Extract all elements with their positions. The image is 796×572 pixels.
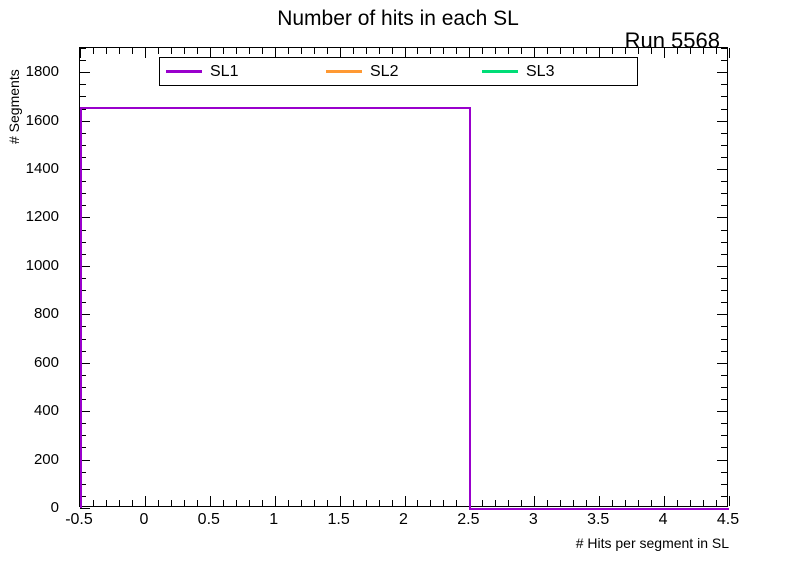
histogram-top-SL1 — [340, 107, 470, 109]
x-axis-tick-label: 2.5 — [433, 511, 503, 529]
axis-tick — [366, 48, 367, 54]
axis-tick — [690, 48, 691, 54]
axis-tick — [677, 48, 678, 54]
axis-tick — [93, 48, 94, 54]
axis-tick — [145, 48, 146, 58]
axis-tick — [132, 48, 133, 54]
axis-tick — [717, 363, 727, 364]
axis-tick — [721, 133, 727, 134]
axis-tick — [716, 500, 717, 506]
axis-tick — [638, 48, 639, 54]
axis-tick — [721, 472, 727, 473]
axis-tick — [721, 193, 727, 194]
axis-tick — [651, 500, 652, 506]
axis-tick — [482, 500, 483, 506]
axis-tick — [119, 48, 120, 54]
axis-tick — [677, 500, 678, 506]
x-axis-tick-label: 0.5 — [174, 511, 244, 529]
axis-tick — [288, 500, 289, 506]
axis-tick — [721, 387, 727, 388]
axis-tick — [80, 96, 86, 97]
y-axis-tick-label: 800 — [0, 306, 59, 321]
axis-tick — [717, 460, 727, 461]
x-axis-tick-label: 4 — [628, 511, 698, 529]
axis-tick — [223, 500, 224, 506]
axis-tick — [717, 411, 727, 412]
axis-tick — [717, 217, 727, 218]
axis-tick — [197, 500, 198, 506]
axis-tick — [132, 500, 133, 506]
axis-tick — [729, 496, 730, 506]
x-axis-title: # Hits per segment in SL — [0, 534, 729, 552]
axis-tick — [721, 48, 727, 49]
axis-tick — [721, 205, 727, 206]
legend-entry-sl3[interactable]: SL3 — [482, 58, 554, 85]
axis-tick — [721, 145, 727, 146]
axis-tick — [703, 48, 704, 54]
axis-tick — [721, 157, 727, 158]
axis-tick — [314, 500, 315, 506]
axis-tick — [456, 500, 457, 506]
axis-tick — [703, 500, 704, 506]
y-axis-tick-label: 600 — [0, 355, 59, 370]
axis-tick — [236, 48, 237, 54]
axis-tick — [301, 500, 302, 506]
axis-tick — [495, 48, 496, 54]
histogram-edge-SL1 — [80, 107, 82, 508]
axis-tick — [721, 339, 727, 340]
axis-tick — [721, 242, 727, 243]
axis-tick — [721, 496, 727, 497]
axis-tick — [721, 351, 727, 352]
axis-tick — [353, 500, 354, 506]
x-axis-tick-label: 2 — [369, 511, 439, 529]
axis-tick — [249, 500, 250, 506]
axis-tick — [721, 447, 727, 448]
axis-tick — [721, 230, 727, 231]
axis-tick — [288, 48, 289, 54]
axis-tick — [184, 48, 185, 54]
axis-tick — [327, 48, 328, 54]
axis-tick — [314, 48, 315, 54]
axis-tick — [690, 500, 691, 506]
axis-tick — [495, 500, 496, 506]
axis-tick — [547, 48, 548, 54]
axis-tick — [171, 48, 172, 54]
axis-tick — [223, 48, 224, 54]
axis-tick — [599, 496, 600, 506]
x-axis-tick-label: 4.5 — [693, 511, 763, 529]
y-axis-tick-label: 1200 — [0, 209, 59, 224]
legend-entry-sl1[interactable]: SL1 — [166, 58, 238, 85]
axis-tick — [521, 500, 522, 506]
axis-tick — [392, 48, 393, 54]
plot-frame — [79, 47, 728, 507]
axis-tick — [508, 48, 509, 54]
x-axis-tick-label: 0 — [109, 511, 179, 529]
legend[interactable]: SL1SL2SL3 — [159, 57, 638, 86]
axis-tick — [392, 500, 393, 506]
axis-tick — [729, 48, 730, 58]
axis-tick — [717, 314, 727, 315]
axis-tick — [443, 500, 444, 506]
axis-tick — [717, 121, 727, 122]
axis-tick — [716, 48, 717, 54]
axis-tick — [508, 500, 509, 506]
axis-tick — [262, 48, 263, 54]
axis-tick — [721, 484, 727, 485]
axis-tick — [521, 48, 522, 54]
x-axis-tick-label: 3.5 — [563, 511, 633, 529]
axis-tick — [197, 48, 198, 54]
axis-tick — [145, 496, 146, 506]
histogram-top-SL1 — [599, 508, 729, 510]
axis-tick — [80, 60, 86, 61]
axis-tick — [717, 72, 727, 73]
axis-tick — [80, 48, 81, 58]
axis-tick — [721, 399, 727, 400]
legend-swatch-icon — [166, 70, 202, 73]
axis-tick — [366, 500, 367, 506]
y-axis-tick-label: 200 — [0, 452, 59, 467]
axis-tick — [249, 48, 250, 54]
axis-tick — [534, 496, 535, 506]
root-canvas: Number of hits in each SL Run 5568 # Seg… — [0, 0, 796, 572]
axis-tick — [417, 48, 418, 54]
x-axis-tick-label: 1 — [239, 511, 309, 529]
axis-tick — [262, 500, 263, 506]
axis-tick — [119, 500, 120, 506]
axis-tick — [80, 84, 86, 85]
legend-entry-sl2[interactable]: SL2 — [326, 58, 398, 85]
axis-tick — [721, 326, 727, 327]
axis-tick — [547, 500, 548, 506]
axis-tick — [664, 48, 665, 58]
axis-tick — [353, 48, 354, 54]
legend-swatch-icon — [326, 70, 362, 73]
histogram-top-SL1 — [80, 107, 210, 109]
axis-tick — [456, 48, 457, 54]
axis-tick — [625, 500, 626, 506]
axis-tick — [721, 302, 727, 303]
axis-tick — [625, 48, 626, 54]
axis-tick — [586, 500, 587, 506]
y-axis-tick-label: 400 — [0, 403, 59, 418]
legend-label: SL1 — [210, 63, 238, 81]
axis-tick — [717, 266, 727, 267]
x-axis-tick-label: 3 — [498, 511, 568, 529]
axis-tick — [301, 48, 302, 54]
axis-tick — [612, 48, 613, 54]
axis-tick — [721, 290, 727, 291]
axis-tick — [721, 60, 727, 61]
axis-tick — [560, 500, 561, 506]
axis-tick — [340, 496, 341, 506]
axis-tick — [586, 48, 587, 54]
legend-swatch-icon — [482, 70, 518, 73]
axis-tick — [638, 500, 639, 506]
axis-tick — [158, 48, 159, 54]
axis-tick — [721, 109, 727, 110]
axis-tick — [106, 500, 107, 506]
y-axis-tick-label: 1800 — [0, 64, 59, 79]
axis-tick — [443, 48, 444, 54]
axis-tick — [275, 496, 276, 506]
axis-tick — [573, 48, 574, 54]
legend-label: SL2 — [370, 63, 398, 81]
axis-tick — [721, 181, 727, 182]
x-axis-tick-label: 1.5 — [304, 511, 374, 529]
y-axis-tick-label: 1000 — [0, 258, 59, 273]
axis-tick — [717, 169, 727, 170]
axis-tick — [721, 84, 727, 85]
axis-tick — [721, 278, 727, 279]
axis-tick — [236, 500, 237, 506]
legend-label: SL3 — [526, 63, 554, 81]
histogram-top-SL1 — [469, 508, 599, 510]
histogram-edge-SL1 — [469, 107, 471, 508]
axis-tick — [184, 500, 185, 506]
histogram-top-SL1 — [210, 107, 340, 109]
axis-tick — [721, 254, 727, 255]
axis-tick — [379, 48, 380, 54]
y-axis-tick-label: 1600 — [0, 113, 59, 128]
axis-tick — [106, 48, 107, 54]
axis-tick — [721, 423, 727, 424]
axis-tick — [417, 500, 418, 506]
axis-tick — [379, 500, 380, 506]
axis-tick — [612, 500, 613, 506]
axis-tick — [80, 508, 90, 509]
axis-tick — [430, 48, 431, 54]
axis-tick — [721, 435, 727, 436]
axis-tick — [405, 496, 406, 506]
axis-tick — [80, 72, 90, 73]
axis-tick — [158, 500, 159, 506]
axis-tick — [93, 500, 94, 506]
axis-tick — [327, 500, 328, 506]
axis-tick — [560, 48, 561, 54]
axis-tick — [430, 500, 431, 506]
x-axis-tick-label: -0.5 — [44, 511, 114, 529]
axis-tick — [721, 375, 727, 376]
axis-tick — [482, 48, 483, 54]
axis-tick — [210, 496, 211, 506]
axis-tick — [721, 96, 727, 97]
axis-tick — [171, 500, 172, 506]
axis-tick — [664, 496, 665, 506]
y-axis-tick-label: 1400 — [0, 161, 59, 176]
axis-tick — [573, 500, 574, 506]
axis-tick — [651, 48, 652, 54]
